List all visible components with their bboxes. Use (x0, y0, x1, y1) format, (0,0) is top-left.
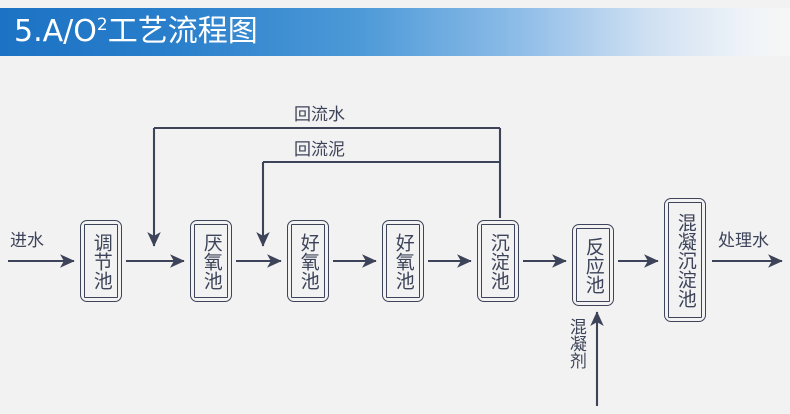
label-return-sludge: 回流泥 (294, 135, 345, 160)
process-box-aerobic-tank-1[interactable]: 好氧池 (287, 220, 329, 302)
process-box-label: 好氧池 (393, 233, 412, 290)
process-box-aerobic-tank-2[interactable]: 好氧池 (382, 220, 424, 302)
process-box-label: 好氧池 (298, 233, 317, 290)
process-box-inner: 反应池 (576, 228, 610, 302)
process-box-label: 厌氧池 (201, 233, 220, 290)
process-box-label: 沉淀池 (488, 233, 507, 290)
process-box-inner: 厌氧池 (194, 224, 228, 298)
process-box-reaction-tank[interactable]: 反应池 (572, 224, 614, 306)
label-return-water: 回流水 (294, 100, 345, 125)
page-title: 5.A/O2工艺流程图 (14, 12, 258, 52)
process-box-inner: 好氧池 (386, 224, 420, 298)
label-outlet: 处理水 (718, 226, 769, 251)
label-coagulant: 混凝剂 (566, 318, 584, 369)
process-box-regulating-tank[interactable]: 调节池 (80, 220, 122, 302)
process-box-label: 混凝沉淀池 (675, 213, 694, 308)
process-box-label: 调节池 (91, 233, 110, 290)
flowchart-page: 5.A/O2工艺流程图 (0, 0, 790, 414)
page-title-prefix: 5.A/O (14, 14, 97, 49)
process-box-inner: 好氧池 (291, 224, 325, 298)
label-inlet: 进水 (10, 226, 44, 251)
page-title-superscript: 2 (97, 15, 108, 35)
process-box-settling-tank[interactable]: 沉淀池 (477, 220, 519, 302)
process-box-coagulation-settling-tank[interactable]: 混凝沉淀池 (664, 198, 706, 322)
process-box-inner: 沉淀池 (481, 224, 515, 298)
process-flow-diagram: 调节池 厌氧池 好氧池 好氧池 沉淀池 反应池 (0, 56, 790, 414)
process-box-anaerobic-tank[interactable]: 厌氧池 (190, 220, 232, 302)
process-box-inner: 调节池 (84, 224, 118, 298)
page-title-suffix: 工艺流程图 (108, 14, 258, 49)
process-box-inner: 混凝沉淀池 (668, 202, 702, 318)
process-box-label: 反应池 (583, 237, 602, 294)
